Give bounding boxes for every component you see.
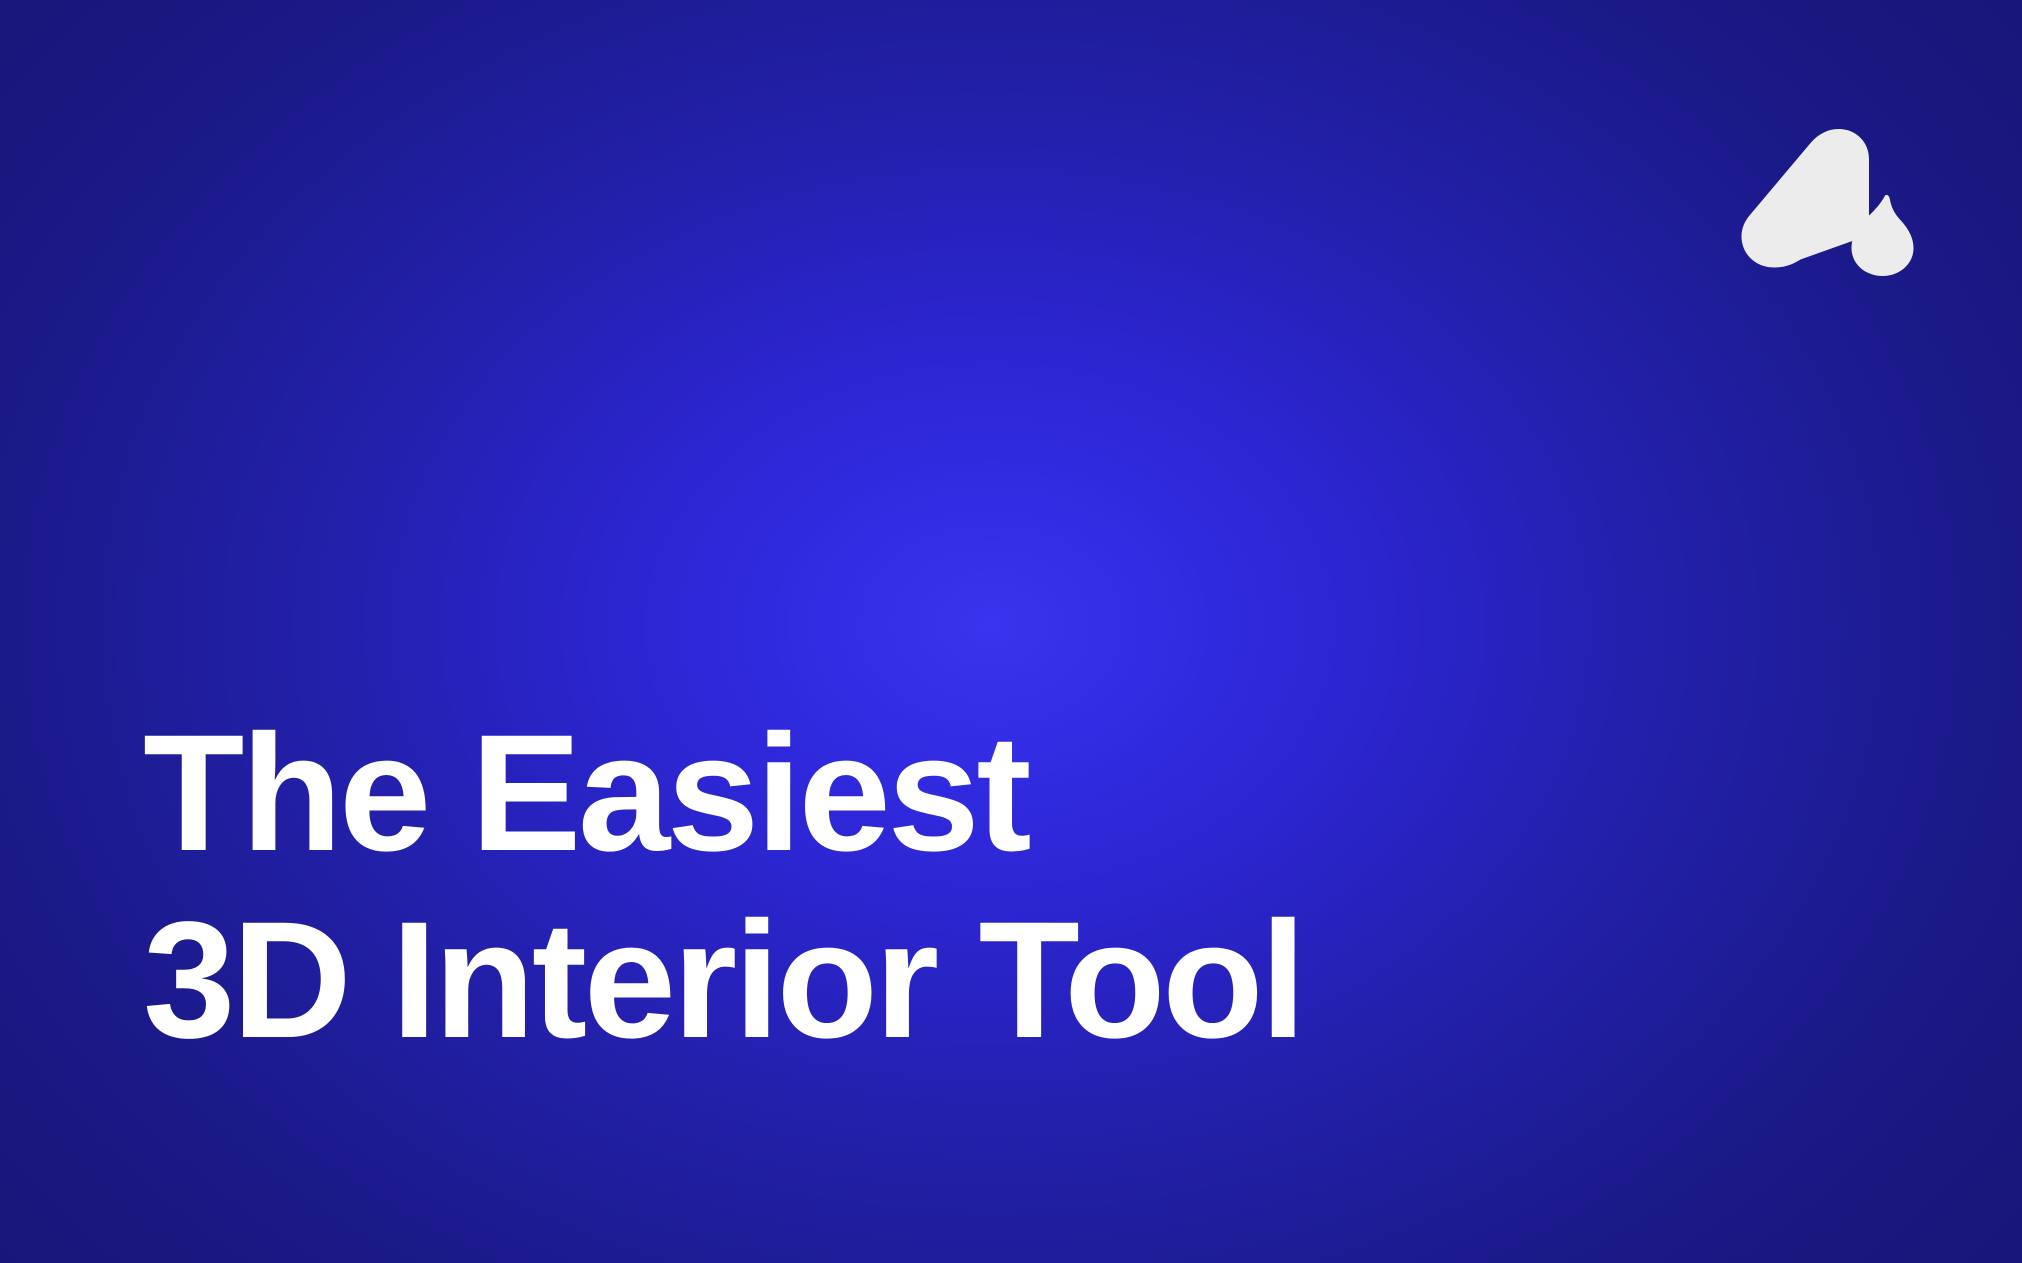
headline-line-1: The Easiest bbox=[143, 700, 1303, 887]
hero-banner: The Easiest 3D Interior Tool bbox=[0, 0, 2022, 1263]
page-title: The Easiest 3D Interior Tool bbox=[143, 700, 1303, 1074]
headline-line-2: 3D Interior Tool bbox=[143, 887, 1303, 1074]
brand-logo[interactable] bbox=[1738, 126, 1920, 276]
brand-logo-mark-icon bbox=[1738, 126, 1920, 276]
